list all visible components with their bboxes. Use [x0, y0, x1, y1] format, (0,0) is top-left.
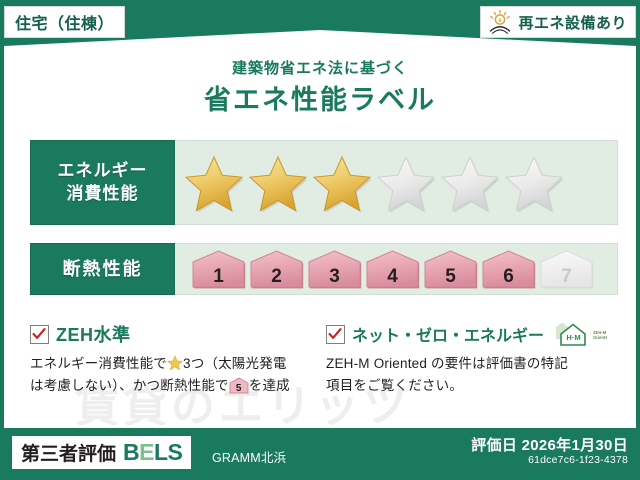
- inline-star-icon: [167, 355, 183, 371]
- inline-house-icon: 5: [229, 377, 249, 394]
- label-subtitle: 建築物省エネ法に基づく: [0, 57, 640, 78]
- star-rating: [183, 153, 565, 213]
- zeh-note-body: エネルギー消費性能で3つ（太陽光発電 は考慮しない）、かつ断熱性能で5を達成: [30, 353, 318, 398]
- nze-note-header: ネット・ゼロ・エネルギー H·M ZEH-M Oriented: [326, 322, 614, 346]
- insulation-level-number: 1: [191, 267, 246, 286]
- energy-performance-row: エネルギー 消費性能: [30, 140, 618, 225]
- nze-note-body: ZEH-M Oriented の要件は評価書の特記 項目をご覧ください。: [326, 353, 614, 398]
- zeh-standard-note: ZEH水準 エネルギー消費性能で3つ（太陽光発電 は考慮しない）、かつ断熱性能で…: [30, 322, 318, 398]
- bels-logo: BELS: [123, 439, 182, 466]
- zeh-body-part2: は考慮しない）、かつ断熱性能で: [30, 378, 229, 393]
- svg-text:Oriented: Oriented: [593, 335, 607, 340]
- evaluation-id: 61dce7c6-1f23-4378: [528, 454, 628, 466]
- inline-house-level: 5: [229, 384, 249, 394]
- star-empty-icon: [503, 153, 565, 213]
- evaluation-date-label: 評価日: [471, 437, 517, 454]
- page-title: 省エネ性能ラベル: [0, 78, 640, 117]
- insulation-level-scale: 1234567: [183, 249, 594, 289]
- sun-renewable-icon: e: [487, 9, 513, 35]
- evaluation-date: 評価日 2026年1月30日: [471, 434, 628, 455]
- nze-body-line2: 項目をご覧ください。: [326, 378, 463, 393]
- bels-certification-plate: 第三者評価 BELS: [12, 436, 191, 469]
- insulation-level-empty: 7: [539, 249, 594, 289]
- renewable-energy-badge: e 再エネ設備あり: [480, 6, 636, 38]
- renewable-badge-label: 再エネ設備あり: [518, 12, 627, 33]
- insulation-level-filled: 3: [307, 249, 362, 289]
- insulation-label: 断熱性能: [63, 257, 143, 281]
- third-party-evaluation-label: 第三者評価: [21, 439, 116, 466]
- insulation-performance-label-cell: 断熱性能: [30, 243, 175, 295]
- insulation-level-number: 4: [365, 267, 420, 286]
- net-zero-energy-note: ネット・ゼロ・エネルギー H·M ZEH-M Oriented ZEH-M Or…: [326, 322, 614, 398]
- zeh-m-oriented-logo-icon: H·M ZEH-M Oriented: [553, 321, 607, 347]
- star-filled-icon: [247, 153, 309, 213]
- insulation-level-filled: 6: [481, 249, 536, 289]
- energy-performance-stars-cell: [175, 140, 618, 225]
- insulation-level-number: 2: [249, 267, 304, 286]
- zeh-body-star-count: 3つ（太陽光発電: [183, 356, 287, 371]
- insulation-level-number: 5: [423, 267, 478, 286]
- insulation-level-number: 7: [539, 267, 594, 286]
- insulation-performance-row: 断熱性能 1234567: [30, 243, 618, 295]
- nze-note-title: ネット・ゼロ・エネルギー: [352, 322, 544, 346]
- insulation-performance-levels-cell: 1234567: [175, 243, 618, 295]
- energy-performance-label-cell: エネルギー 消費性能: [30, 140, 175, 225]
- energy-label-line2: 消費性能: [67, 183, 139, 206]
- bels-logo-ls: LS: [154, 439, 182, 465]
- star-filled-icon: [183, 153, 245, 213]
- check-icon: [30, 325, 49, 344]
- check-icon: [326, 325, 345, 344]
- zeh-body-part1: エネルギー消費性能で: [30, 356, 167, 371]
- energy-performance-label: 住宅（住棟） e 再エネ設備あり 建築物省エネ法に基づく 省エネ性能ラベル: [0, 0, 640, 480]
- nze-body-line1: ZEH-M Oriented の要件は評価書の特記: [326, 356, 568, 371]
- insulation-level-filled: 5: [423, 249, 478, 289]
- evaluation-date-value: 2026年1月30日: [522, 437, 628, 454]
- zeh-note-header: ZEH水準: [30, 322, 318, 346]
- building-type-tab: 住宅（住棟）: [4, 6, 125, 38]
- building-name: GRAMM北浜: [212, 447, 286, 466]
- zeh-note-title: ZEH水準: [56, 321, 131, 347]
- insulation-level-number: 6: [481, 267, 536, 286]
- energy-label-line1: エネルギー: [58, 160, 148, 183]
- bels-logo-b: B: [123, 439, 139, 465]
- bels-logo-e: E: [139, 439, 154, 465]
- building-type-label: 住宅（住棟）: [15, 10, 114, 34]
- insulation-level-filled: 4: [365, 249, 420, 289]
- zeh-body-part3: を達成: [249, 378, 290, 393]
- svg-text:H·M: H·M: [566, 333, 580, 342]
- insulation-level-filled: 1: [191, 249, 246, 289]
- insulation-level-filled: 2: [249, 249, 304, 289]
- star-empty-icon: [439, 153, 501, 213]
- star-filled-icon: [311, 153, 373, 213]
- star-empty-icon: [375, 153, 437, 213]
- insulation-level-number: 3: [307, 267, 362, 286]
- footer-bar: 第三者評価 BELS GRAMM北浜 評価日 2026年1月30日 61dce7…: [0, 428, 640, 480]
